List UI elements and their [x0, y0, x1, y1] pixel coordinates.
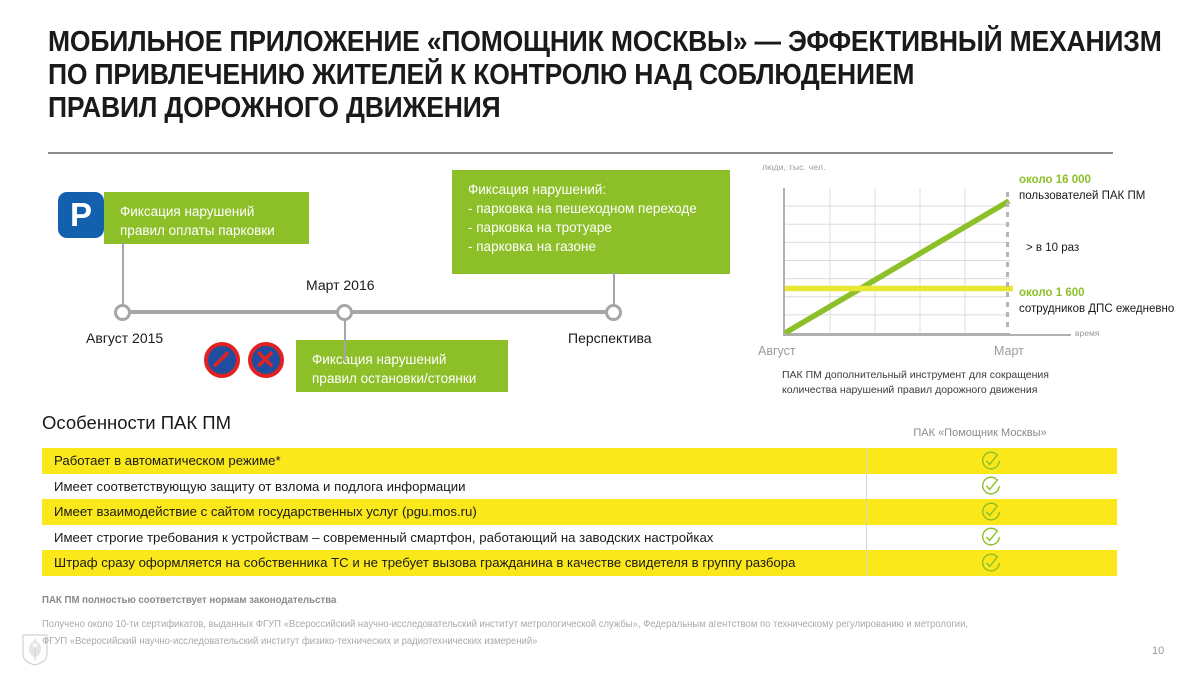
- page-title: МОБИЛЬНОЕ ПРИЛОЖЕНИЕ «ПОМОЩНИК МОСКВЫ» —…: [48, 26, 1138, 125]
- chart-annotation-users-text: пользователей ПАК ПМ: [1019, 188, 1189, 204]
- check-cell: [864, 552, 1117, 574]
- timeline-callout-payment-line-2: правил оплаты парковки: [120, 221, 295, 240]
- timeline-connector-1: [122, 242, 124, 306]
- check-circle-icon: [980, 552, 1002, 574]
- page-title-line-2: ПО ПРИВЛЕЧЕНИЮ ЖИТЕЛЕЙ К КОНТРОЛЮ НАД СО…: [48, 59, 1062, 92]
- chart-plot-area: [783, 188, 1010, 335]
- check-cell: [864, 450, 1117, 472]
- row-divider: [866, 448, 867, 474]
- page-title-line-3: ПРАВИЛ ДОРОЖНОГО ДВИЖЕНИЯ: [48, 92, 1062, 125]
- chart-annotation-ratio: > в 10 раз: [1026, 240, 1079, 256]
- title-divider: [48, 152, 1113, 154]
- feature-label: Имеет соответствующую защиту от взлома и…: [42, 479, 864, 494]
- feature-label: Работает в автоматическом режиме*: [42, 453, 864, 468]
- check-circle-icon: [980, 526, 1002, 548]
- chart-x-axis: [783, 334, 1071, 336]
- footnote-certificates: Получено около 10-ти сертификатов, выдан…: [42, 616, 981, 650]
- check-cell: [864, 501, 1117, 523]
- timeline-label-perspective: Перспектива: [568, 330, 652, 346]
- row-divider: [866, 525, 867, 551]
- parking-sign-icon: P: [58, 192, 104, 238]
- timeline-connector-2: [344, 320, 346, 362]
- timeline-label-march-2016: Март 2016: [306, 277, 375, 293]
- no-stopping-sign-icon: [248, 342, 284, 378]
- page-title-line-1: МОБИЛЬНОЕ ПРИЛОЖЕНИЕ «ПОМОЩНИК МОСКВЫ» —…: [48, 26, 1062, 59]
- timeline-callout-future-title: Фиксация нарушений:: [468, 180, 716, 199]
- table-row: Имеет взаимодействие с сайтом государств…: [42, 499, 1117, 525]
- chart-series-users: [785, 201, 1009, 333]
- chart-annotation-dps-value: около 1 600: [1019, 285, 1194, 301]
- timeline-callout-future: Фиксация нарушений: - парковка на пешехо…: [452, 170, 730, 274]
- check-circle-icon: [980, 450, 1002, 472]
- timeline-callout-stopping-line-2: правил остановки/стоянки: [312, 369, 494, 388]
- timeline-callout-payment: Фиксация нарушений правил оплаты парковк…: [104, 192, 309, 244]
- chart-annotation-users-value: около 16 000: [1019, 172, 1189, 188]
- timeline-callout-payment-line-1: Фиксация нарушений: [120, 202, 295, 221]
- timeline-label-august-2015: Август 2015: [86, 330, 163, 346]
- feature-label: Имеет взаимодействие с сайтом государств…: [42, 504, 864, 519]
- moscow-coat-of-arms-icon: [22, 634, 48, 666]
- table-row: Имеет строгие требования к устройствам –…: [42, 525, 1117, 551]
- check-circle-icon: [980, 501, 1002, 523]
- timeline-node-2: [336, 304, 353, 321]
- timeline-node-3: [605, 304, 622, 321]
- chart-annotation-dps-text: сотрудников ДПС ежедневно: [1019, 301, 1194, 317]
- feature-label: Штраф сразу оформляется на собственника …: [42, 555, 864, 570]
- chart-xtick-august: Август: [758, 344, 796, 358]
- chart-annotation-dps: около 1 600 сотрудников ДПС ежедневно: [1019, 285, 1194, 317]
- chart-svg: [785, 188, 1010, 333]
- no-parking-sign-icon: [204, 342, 240, 378]
- table-row: Штраф сразу оформляется на собственника …: [42, 550, 1117, 576]
- chart-xtick-march: Март: [994, 344, 1024, 358]
- features-column-header: ПАК «Помощник Москвы»: [870, 427, 1090, 439]
- timeline-axis: [122, 310, 614, 314]
- chart-endpoint-dashed-line: [1006, 192, 1009, 330]
- check-circle-icon: [980, 475, 1002, 497]
- chart-annotation-users: около 16 000 пользователей ПАК ПМ: [1019, 172, 1189, 204]
- table-row: Имеет соответствующую защиту от взлома и…: [42, 474, 1117, 500]
- timeline-diagram: P Фиксация нарушений правил оплаты парко…: [0, 160, 730, 410]
- timeline-callout-future-item-2: - парковка на тротуаре: [468, 218, 716, 237]
- timeline-node-1: [114, 304, 131, 321]
- chart-x-axis-label: время: [1075, 328, 1099, 338]
- features-table: Работает в автоматическом режиме* Имеет …: [42, 448, 1117, 576]
- growth-chart: люди, тыс. чел.: [740, 160, 1190, 405]
- feature-label: Имеет строгие требования к устройствам –…: [42, 530, 864, 545]
- row-divider: [866, 550, 867, 576]
- table-row: Работает в автоматическом режиме*: [42, 448, 1117, 474]
- chart-caption: ПАК ПМ дополнительный инструмент для сок…: [782, 368, 1102, 398]
- footnote-compliance: ПАК ПМ полностью соответствует нормам за…: [42, 594, 336, 606]
- page-number: 10: [1152, 645, 1164, 657]
- timeline-callout-stopping: Фиксация нарушений правил остановки/стоя…: [296, 340, 508, 392]
- check-cell: [864, 475, 1117, 497]
- row-divider: [866, 474, 867, 500]
- timeline-callout-future-item-3: - парковка на газоне: [468, 237, 716, 256]
- timeline-callout-stopping-line-1: Фиксация нарушений: [312, 350, 494, 369]
- slide-root: МОБИЛЬНОЕ ПРИЛОЖЕНИЕ «ПОМОЩНИК МОСКВЫ» —…: [0, 0, 1200, 675]
- timeline-callout-future-item-1: - парковка на пешеходном переходе: [468, 199, 716, 218]
- timeline-connector-3: [613, 272, 615, 306]
- chart-y-axis-label: люди, тыс. чел.: [762, 162, 826, 172]
- features-heading: Особенности ПАК ПМ: [42, 412, 231, 434]
- row-divider: [866, 499, 867, 525]
- check-cell: [864, 526, 1117, 548]
